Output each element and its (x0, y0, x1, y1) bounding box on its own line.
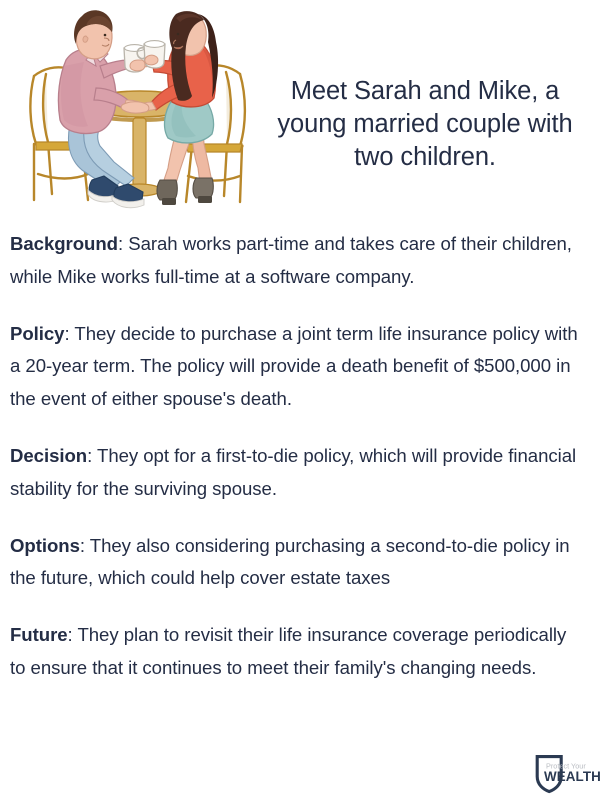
paragraph-label: Policy (10, 323, 64, 344)
paragraph-background: Background: Sarah works part-time and ta… (10, 228, 582, 294)
body-content: Background: Sarah works part-time and ta… (10, 228, 582, 685)
paragraph-separator: : (80, 535, 90, 556)
paragraph-separator: : (68, 624, 78, 645)
paragraph-text: They plan to revisit their life insuranc… (10, 624, 566, 678)
paragraph-label: Future (10, 624, 68, 645)
paragraph-separator: : (87, 445, 97, 466)
paragraph-text: They decide to purchase a joint term lif… (10, 323, 578, 410)
paragraph-label: Decision (10, 445, 87, 466)
paragraph-separator: : (118, 233, 128, 254)
paragraph-label: Options (10, 535, 80, 556)
paragraph-label: Background (10, 233, 118, 254)
paragraph-options: Options: They also considering purchasin… (10, 530, 582, 596)
logo-wordmark: WEALTH (544, 769, 600, 784)
protect-your-wealth-logo: Protect Your WEALTH (533, 752, 600, 794)
paragraph-decision: Decision: They opt for a first-to-die po… (10, 440, 582, 506)
couple-at-cafe-table-illustration (26, 4, 254, 218)
paragraph-future: Future: They plan to revisit their life … (10, 619, 582, 685)
page-title: Meet Sarah and Mike, a young married cou… (262, 75, 588, 174)
paragraph-separator: : (64, 323, 74, 344)
paragraph-text: They also considering purchasing a secon… (10, 535, 570, 589)
paragraph-policy: Policy: They decide to purchase a joint … (10, 318, 582, 416)
hero-section: Meet Sarah and Mike, a young married cou… (0, 0, 600, 222)
